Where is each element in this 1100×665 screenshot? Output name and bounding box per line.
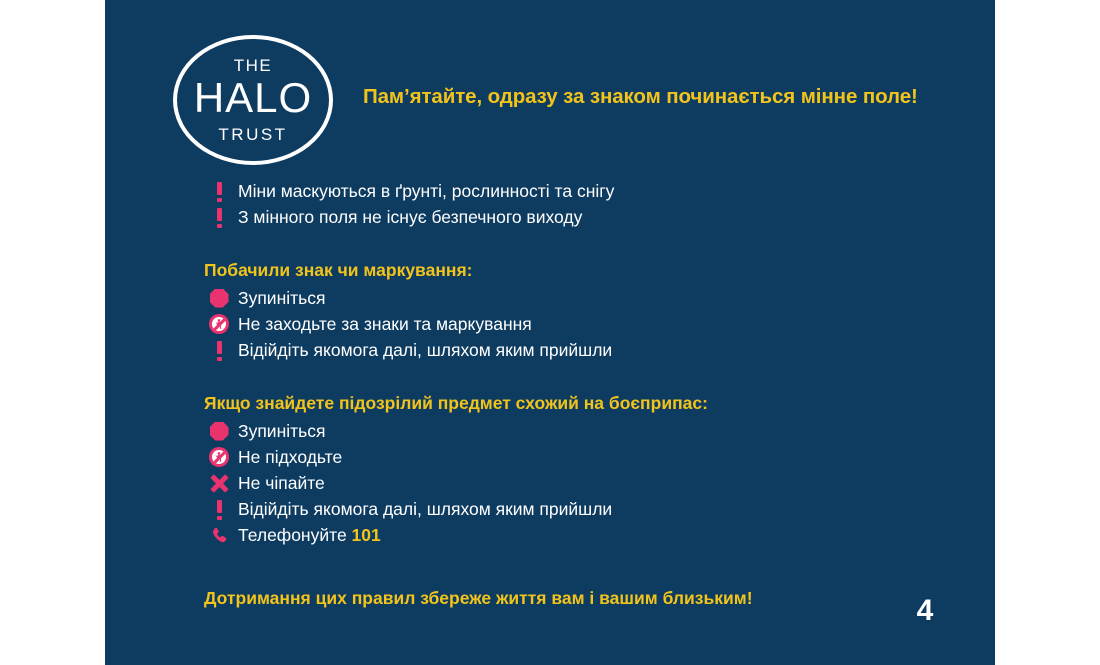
phone-handset-glyph: [209, 525, 230, 546]
list-item-label: Відійдіть якомога далі, шляхом яким прий…: [238, 340, 612, 361]
exclamation-icon: [200, 496, 238, 522]
section-sign-heading: Побачили знак чи маркування:: [204, 260, 995, 281]
list-item-label: Зупиніться: [238, 288, 325, 309]
list-item: Не підходьте: [200, 444, 995, 470]
list-item: З мінного поля не існує безпечного виход…: [200, 204, 995, 230]
list-item: Відійдіть якомога далі, шляхом яким прий…: [200, 496, 995, 522]
slide-content: Міни маскуються в ґрунті, рослинності та…: [200, 178, 995, 548]
list-item-label: Міни маскуються в ґрунті, рослинності та…: [238, 181, 614, 202]
list-item-label: Не заходьте за знаки та маркування: [238, 314, 532, 335]
exclamation-icon: [200, 204, 238, 230]
list-item-phone: Телефонуйте 101: [200, 522, 995, 548]
logo-text-the: THE: [173, 56, 333, 76]
exclamation-icon: [200, 178, 238, 204]
slide-header: THE HALO TRUST Пам’ятайте, одразу за зна…: [105, 30, 995, 170]
phone-label-text: Телефонуйте: [238, 525, 352, 545]
list-item: Міни маскуються в ґрунті, рослинності та…: [200, 178, 995, 204]
page-number: 4: [905, 594, 945, 628]
intro-list: Міни маскуються в ґрунті, рослинності та…: [200, 178, 995, 230]
section-object: Якщо знайдете підозрілий предмет схожий …: [200, 393, 995, 548]
spacer: [200, 363, 995, 393]
no-pedestrian-icon: [200, 311, 238, 337]
list-item-label: Не чіпайте: [238, 473, 325, 494]
spacer: [200, 230, 995, 260]
no-pedestrian-icon: [200, 444, 238, 470]
exclamation-icon: [200, 337, 238, 363]
headline-text: Пам’ятайте, одразу за знаком починається…: [363, 85, 993, 109]
stop-octagon-icon: [200, 285, 238, 311]
list-item: Відійдіть якомога далі, шляхом яким прий…: [200, 337, 995, 363]
cross-x-icon: [200, 470, 238, 496]
footer-note: Дотримання цих правил збереже життя вам …: [204, 588, 753, 609]
logo-text-halo: HALO: [173, 75, 333, 121]
logo-text-trust: TRUST: [173, 125, 333, 145]
list-item-label: З мінного поля не існує безпечного виход…: [238, 207, 582, 228]
section-sign: Побачили знак чи маркування: Зупиніться: [200, 260, 995, 363]
list-item-label: Не підходьте: [238, 447, 342, 468]
phone-number: 101: [352, 525, 381, 545]
phone-icon: [200, 522, 238, 548]
slide-canvas: THE HALO TRUST Пам’ятайте, одразу за зна…: [105, 0, 995, 665]
list-item: Не чіпайте: [200, 470, 995, 496]
halo-trust-logo: THE HALO TRUST: [173, 35, 333, 165]
list-item: Не заходьте за знаки та маркування: [200, 311, 995, 337]
section-object-heading: Якщо знайдете підозрілий предмет схожий …: [204, 393, 995, 414]
stop-octagon-icon: [200, 418, 238, 444]
list-item-label: Телефонуйте 101: [238, 525, 381, 546]
list-item: Зупиніться: [200, 285, 995, 311]
list-item: Зупиніться: [200, 418, 995, 444]
list-item-label: Відійдіть якомога далі, шляхом яким прий…: [238, 499, 612, 520]
list-item-label: Зупиніться: [238, 421, 325, 442]
